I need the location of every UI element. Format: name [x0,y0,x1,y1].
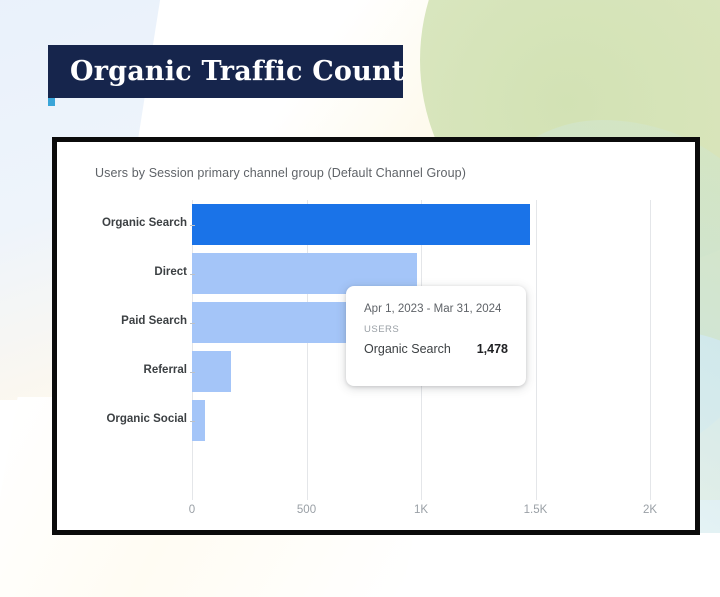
tooltip-series-label: Organic Search [364,342,451,356]
x-axis-tick-label: 2K [643,504,657,516]
x-gridline [192,200,193,500]
category-label-text: Paid Search [121,315,187,327]
x-gridline [650,200,651,500]
x-axis-tick-label: 0 [189,504,195,516]
y-axis-tick-mark [190,274,195,275]
x-axis-tick-label: 500 [297,504,316,516]
bar-organic-search[interactable] [192,204,530,245]
y-axis-category-label: Organic Search [79,217,187,233]
tooltip-value: 1,478 [463,342,508,356]
tooltip-date-range: Apr 1, 2023 - Mar 31, 2024 [364,303,508,315]
x-gridline [307,200,308,500]
y-axis-tick-mark [190,225,195,226]
y-axis-category-label: Referral [79,364,187,380]
y-axis-tick-mark [190,421,195,422]
category-label-text: Organic Social [106,413,187,425]
y-axis-category-label: Direct [79,266,187,282]
page-title-banner: Organic Traffic Count [48,45,403,98]
page-title: Organic Traffic Count [48,56,404,87]
category-label-text: Referral [144,364,187,376]
x-axis-tick-label: 1.5K [524,504,548,516]
y-axis-category-label: Paid Search [79,315,187,331]
y-axis-category-label: Organic Social [79,413,187,429]
y-axis-tick-mark [190,323,195,324]
y-axis-tick-mark [190,372,195,373]
chart-tooltip: Apr 1, 2023 - Mar 31, 2024 USERS Organic… [346,286,526,386]
category-label-text: Direct [154,266,187,278]
x-axis-tick-label: 1K [414,504,428,516]
tooltip-metric-label: USERS [364,324,508,335]
x-gridline [536,200,537,500]
bar-referral[interactable] [192,351,231,392]
chart-card: Users by Session primary channel group (… [52,137,700,535]
tooltip-value-row: Organic Search 1,478 [364,342,508,356]
category-label-text: Organic Search [102,217,187,229]
